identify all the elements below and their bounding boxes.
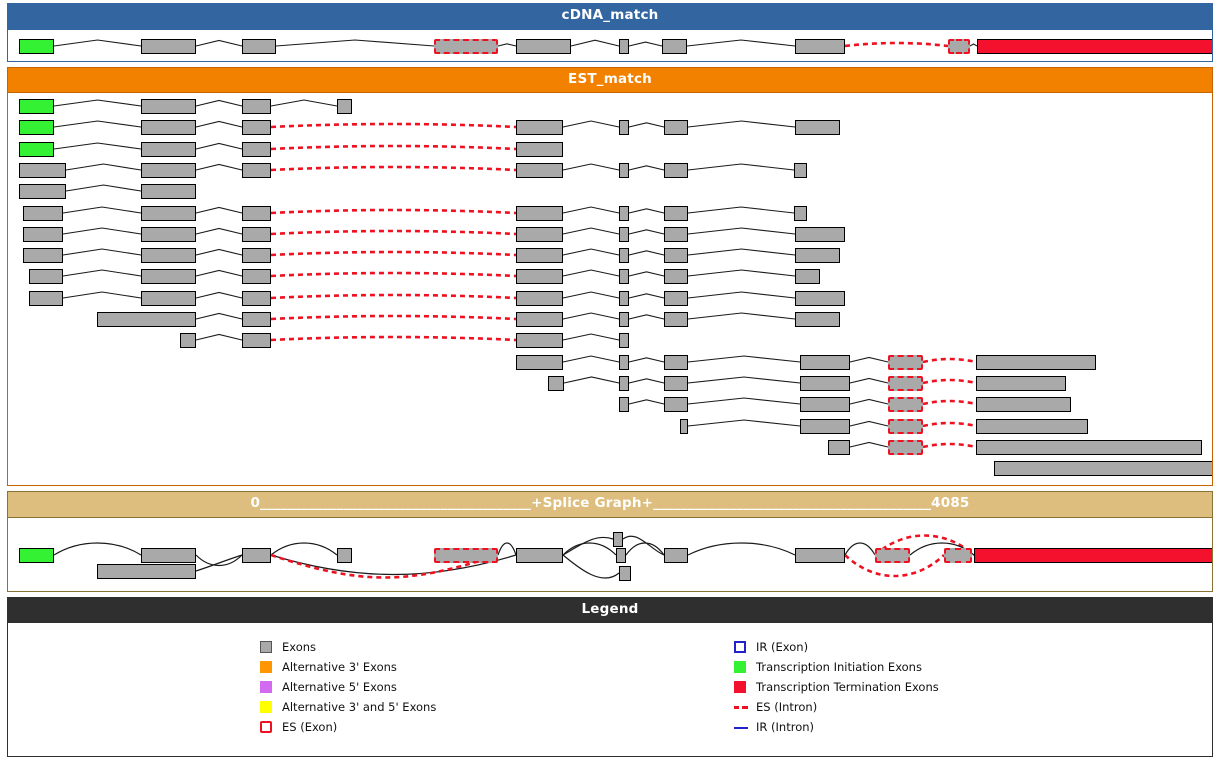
exon-es[interactable] [948,39,970,54]
intron [629,352,664,370]
est-transcript-row[interactable] [8,312,1212,328]
track-body-cdna-match[interactable] [8,29,1212,61]
exon-exon[interactable] [516,333,563,348]
intron [63,203,141,221]
intron-es [923,394,976,412]
track-title-est-match: EST_match [568,71,652,87]
intron-arc [498,522,516,578]
intron [196,160,242,178]
intron [196,139,242,157]
splice-graph-exon-exon[interactable] [616,548,626,563]
intron-es [271,139,516,157]
exon-exon[interactable] [141,163,196,178]
exon-exon[interactable] [664,227,688,242]
exon-exon[interactable] [619,227,629,242]
track-body-est-match[interactable] [8,92,1212,485]
intron-arc [196,522,242,578]
legend-swatch-alt5-icon [260,681,272,693]
exon-exon[interactable] [141,206,196,221]
est-transcript-row[interactable] [8,248,1212,264]
intron [196,330,242,348]
est-transcript-row[interactable] [8,184,1212,200]
intron [629,266,664,284]
exon-exon[interactable] [976,419,1088,434]
exon-exon[interactable] [141,99,196,114]
exon-exon[interactable] [976,355,1096,370]
intron [688,224,795,242]
legend-swatch-alt3-icon [260,661,272,673]
exon-exon[interactable] [19,163,66,178]
est-transcript-row[interactable] [8,419,1212,435]
intron [66,160,141,178]
intron [688,288,795,306]
intron [687,36,795,54]
exon-exon[interactable] [516,355,563,370]
splice-graph-exon-es[interactable] [434,548,498,563]
intron [54,139,141,157]
intron [850,437,888,455]
est-transcript-row[interactable] [8,291,1212,307]
exon-exon[interactable] [619,120,629,135]
exon-exon[interactable] [242,99,271,114]
splice-graph-exon-es[interactable] [944,548,972,563]
intron [688,203,794,221]
intron-es [923,416,976,434]
exon-exon[interactable] [242,142,271,157]
intron [271,96,337,114]
exon-exon[interactable] [242,248,271,263]
splice-graph-exon-exon[interactable] [619,566,631,581]
intron [196,288,242,306]
exon-exon[interactable] [242,227,271,242]
exon-exon[interactable] [516,39,571,54]
intron [563,117,619,135]
est-transcript-row[interactable] [8,227,1212,243]
exon-exon[interactable] [516,227,563,242]
exon-exon[interactable] [141,39,196,54]
exon-exon[interactable] [664,376,688,391]
intron [688,266,795,284]
intron [196,224,242,242]
splice-graph-exon-exon[interactable] [516,548,563,563]
intron-arc [626,522,664,578]
exon-exon[interactable] [29,269,63,284]
track-title-cdna-match: cDNA_match [562,7,659,23]
legend-label: Alternative 5' Exons [282,677,397,697]
est-transcript-row[interactable] [8,355,1212,371]
exon-exon[interactable] [619,248,629,263]
exon-exon[interactable] [141,184,196,199]
splice-graph-exon-term[interactable] [974,548,1212,563]
intron [563,288,619,306]
exon-exon[interactable] [795,269,820,284]
track-splice-graph: 0_______________________________________… [7,491,1213,592]
exon-exon[interactable] [337,99,352,114]
intron [63,266,141,284]
exon-exon[interactable] [242,120,271,135]
exon-exon[interactable] [664,163,688,178]
legend-panel: Legend ExonsAlternative 3' ExonsAlternat… [7,597,1213,758]
exon-exon[interactable] [664,269,688,284]
intron [54,96,141,114]
legend-label: Alternative 3' Exons [282,657,397,677]
est-transcript-row[interactable] [8,440,1212,456]
intron [563,203,619,221]
intron-arc [845,522,875,578]
exon-exon[interactable] [516,248,563,263]
exon-es[interactable] [434,39,498,54]
exon-exon[interactable] [516,142,563,157]
exon-exon[interactable] [19,184,66,199]
splice-graph-exon-exon[interactable] [242,548,271,563]
intron [196,96,242,114]
exon-exon[interactable] [548,376,564,391]
legend-swatch-term-icon [734,681,746,693]
exon-exon[interactable] [242,269,271,284]
legend-title: Legend [581,601,638,617]
exon-exon[interactable] [516,269,563,284]
legend-label: Alternative 3' and 5' Exons [282,697,436,717]
track-header-splice-graph[interactable]: 0_______________________________________… [8,492,1212,517]
splice-graph-exon-exon[interactable] [664,548,688,563]
intron [629,245,664,263]
exon-exon[interactable] [976,440,1202,455]
intron [629,160,664,178]
intron-es [845,36,948,54]
est-transcript-row[interactable] [8,120,1212,136]
intron-es [271,266,516,284]
intron [54,117,141,135]
exon-exon[interactable] [23,206,63,221]
splice-graph-exon-exon[interactable] [795,548,845,563]
exon-exon[interactable] [23,227,63,242]
legend-swatch-esline-icon [734,706,748,709]
splice-graph-exon-exon[interactable] [97,564,196,579]
est-transcript-row[interactable] [8,163,1212,179]
intron [563,266,619,284]
est-transcript-row[interactable] [8,376,1212,392]
intron [850,373,888,391]
splice-graph-exon-exon[interactable] [613,532,623,547]
cdna-transcript-row[interactable] [8,30,1212,46]
exon-exon[interactable] [795,291,845,306]
exon-exon[interactable] [619,291,629,306]
intron-es [271,330,516,348]
exon-es[interactable] [888,376,923,391]
exon-exon[interactable] [662,39,687,54]
splice-graph-exon-init[interactable] [19,548,54,563]
exon-init[interactable] [19,142,54,157]
intron [629,224,664,242]
exon-exon[interactable] [516,206,563,221]
intron [563,309,619,327]
intron [54,36,141,54]
exon-exon[interactable] [794,163,807,178]
exon-exon[interactable] [141,142,196,157]
legend-swatch-esx-icon [260,721,272,733]
intron [629,203,664,221]
splice-graph-exon-exon[interactable] [141,548,196,563]
exon-exon[interactable] [664,206,688,221]
legend-swatch-alt35-icon [260,701,272,713]
intron [563,352,619,370]
exon-exon[interactable] [23,248,63,263]
exon-exon[interactable] [800,419,850,434]
intron-es [271,160,516,178]
legend-header[interactable]: Legend [8,598,1212,623]
exon-exon[interactable] [664,248,688,263]
exon-exon[interactable] [141,120,196,135]
intron [563,160,619,178]
exon-exon[interactable] [619,312,629,327]
intron [629,288,664,306]
est-transcript-row[interactable] [8,142,1212,158]
exon-exon[interactable] [795,248,840,263]
intron-es [271,245,516,263]
exon-exon[interactable] [795,39,845,54]
exon-exon[interactable] [619,397,629,412]
legend-label: Transcription Initiation Exons [756,657,922,677]
intron-es [923,437,976,455]
legend-label: IR (Exon) [756,637,808,657]
intron-arc [271,522,337,578]
intron [196,309,242,327]
intron [688,309,795,327]
track-est-match: EST_match [7,67,1213,487]
intron [63,288,141,306]
intron-arc [688,522,795,578]
exon-exon[interactable] [800,376,850,391]
intron [196,203,242,221]
exon-init[interactable] [19,39,54,54]
exon-exon[interactable] [794,206,807,221]
exon-exon[interactable] [242,206,271,221]
intron-es [923,373,976,391]
intron [688,352,800,370]
exon-exon[interactable] [141,269,196,284]
exon-exon[interactable] [976,376,1066,391]
legend-swatch-init-icon [734,661,746,673]
legend-label: Exons [282,637,316,657]
exon-exon[interactable] [680,419,688,434]
intron-es [271,203,516,221]
intron [63,245,141,263]
legend-body: ExonsAlternative 3' ExonsAlternative 5' … [8,622,1212,756]
intron [688,373,800,391]
intron [688,117,795,135]
splice-graph-exon-exon[interactable] [337,548,352,563]
exon-exon[interactable] [516,312,563,327]
exon-exon[interactable] [29,291,63,306]
intron [629,373,664,391]
intron [196,36,242,54]
exon-exon[interactable] [619,163,629,178]
exon-exon[interactable] [516,120,563,135]
intron [629,309,664,327]
exon-exon[interactable] [141,248,196,263]
exon-exon[interactable] [976,397,1071,412]
exon-exon[interactable] [180,333,196,348]
splice-graph-viewer: cDNA_match EST_match 0__________________… [0,0,1220,765]
est-transcript-row[interactable] [8,269,1212,285]
est-transcript-row[interactable] [8,99,1212,115]
exon-exon[interactable] [619,355,629,370]
intron [850,352,888,370]
exon-exon[interactable] [828,440,850,455]
exon-exon[interactable] [664,355,688,370]
exon-exon[interactable] [664,397,688,412]
exon-exon[interactable] [800,397,850,412]
exon-exon[interactable] [795,312,840,327]
legend-swatch-irx-icon [734,641,746,653]
splice-graph-scale-label: 0_______________________________________… [250,495,969,511]
exon-init[interactable] [19,120,54,135]
exon-exon[interactable] [664,312,688,327]
legend-label: ES (Intron) [756,697,817,717]
intron [850,416,888,434]
intron [688,416,800,434]
intron-arc [563,522,619,591]
exon-exon[interactable] [242,39,276,54]
exon-es[interactable] [888,355,923,370]
est-transcript-row[interactable] [8,397,1212,413]
est-transcript-row[interactable] [8,206,1212,222]
exon-exon[interactable] [141,227,196,242]
track-header-cdna-match[interactable]: cDNA_match [8,4,1212,29]
intron [66,181,141,199]
intron [571,36,619,54]
exon-exon[interactable] [664,120,688,135]
intron [629,36,662,54]
exon-exon[interactable] [619,333,629,348]
exon-exon[interactable] [795,227,845,242]
intron-arc [563,517,613,578]
est-transcript-row[interactable] [8,333,1212,349]
exon-exon[interactable] [619,206,629,221]
legend-label: ES (Exon) [282,717,337,737]
exon-exon[interactable] [619,376,629,391]
intron [688,394,800,412]
exon-exon[interactable] [516,163,563,178]
intron [276,36,434,54]
exon-exon[interactable] [242,333,271,348]
exon-exon[interactable] [141,291,196,306]
exon-es[interactable] [888,419,923,434]
intron-es [271,224,516,242]
intron [688,245,795,263]
intron [850,394,888,412]
exon-exon[interactable] [994,461,1212,476]
legend-label: Transcription Termination Exons [756,677,939,697]
legend-swatch-exons-icon [260,641,272,653]
intron [563,224,619,242]
intron [563,330,619,348]
exon-exon[interactable] [97,312,196,327]
exon-exon[interactable] [242,163,271,178]
intron-es [271,117,516,135]
exon-exon[interactable] [800,355,850,370]
legend-label: IR (Intron) [756,717,814,737]
intron [564,373,619,391]
intron [629,394,664,412]
exon-es[interactable] [888,440,923,455]
intron [63,224,141,242]
exon-term[interactable] [977,39,1212,54]
intron-es [271,288,516,306]
exon-exon[interactable] [242,312,271,327]
exon-exon[interactable] [516,291,563,306]
intron-es [923,352,976,370]
exon-exon[interactable] [664,291,688,306]
legend-swatch-irline-icon [734,727,748,729]
track-header-est-match[interactable]: EST_match [8,68,1212,93]
exon-exon[interactable] [619,39,629,54]
exon-es[interactable] [888,397,923,412]
intron [688,160,794,178]
intron [629,117,664,135]
splice-graph-exon-es[interactable] [875,548,910,563]
intron [563,245,619,263]
exon-init[interactable] [19,99,54,114]
track-cdna-match: cDNA_match [7,3,1213,62]
exon-exon[interactable] [619,269,629,284]
exon-exon[interactable] [242,291,271,306]
intron [498,36,516,54]
intron [196,117,242,135]
intron-arc [196,522,242,591]
est-transcript-row[interactable] [8,461,1212,477]
track-body-splice-graph[interactable] [8,517,1212,591]
intron-arc [563,522,616,578]
intron [970,36,977,54]
intron [196,266,242,284]
intron [196,245,242,263]
intron-es [271,309,516,327]
exon-exon[interactable] [795,120,840,135]
